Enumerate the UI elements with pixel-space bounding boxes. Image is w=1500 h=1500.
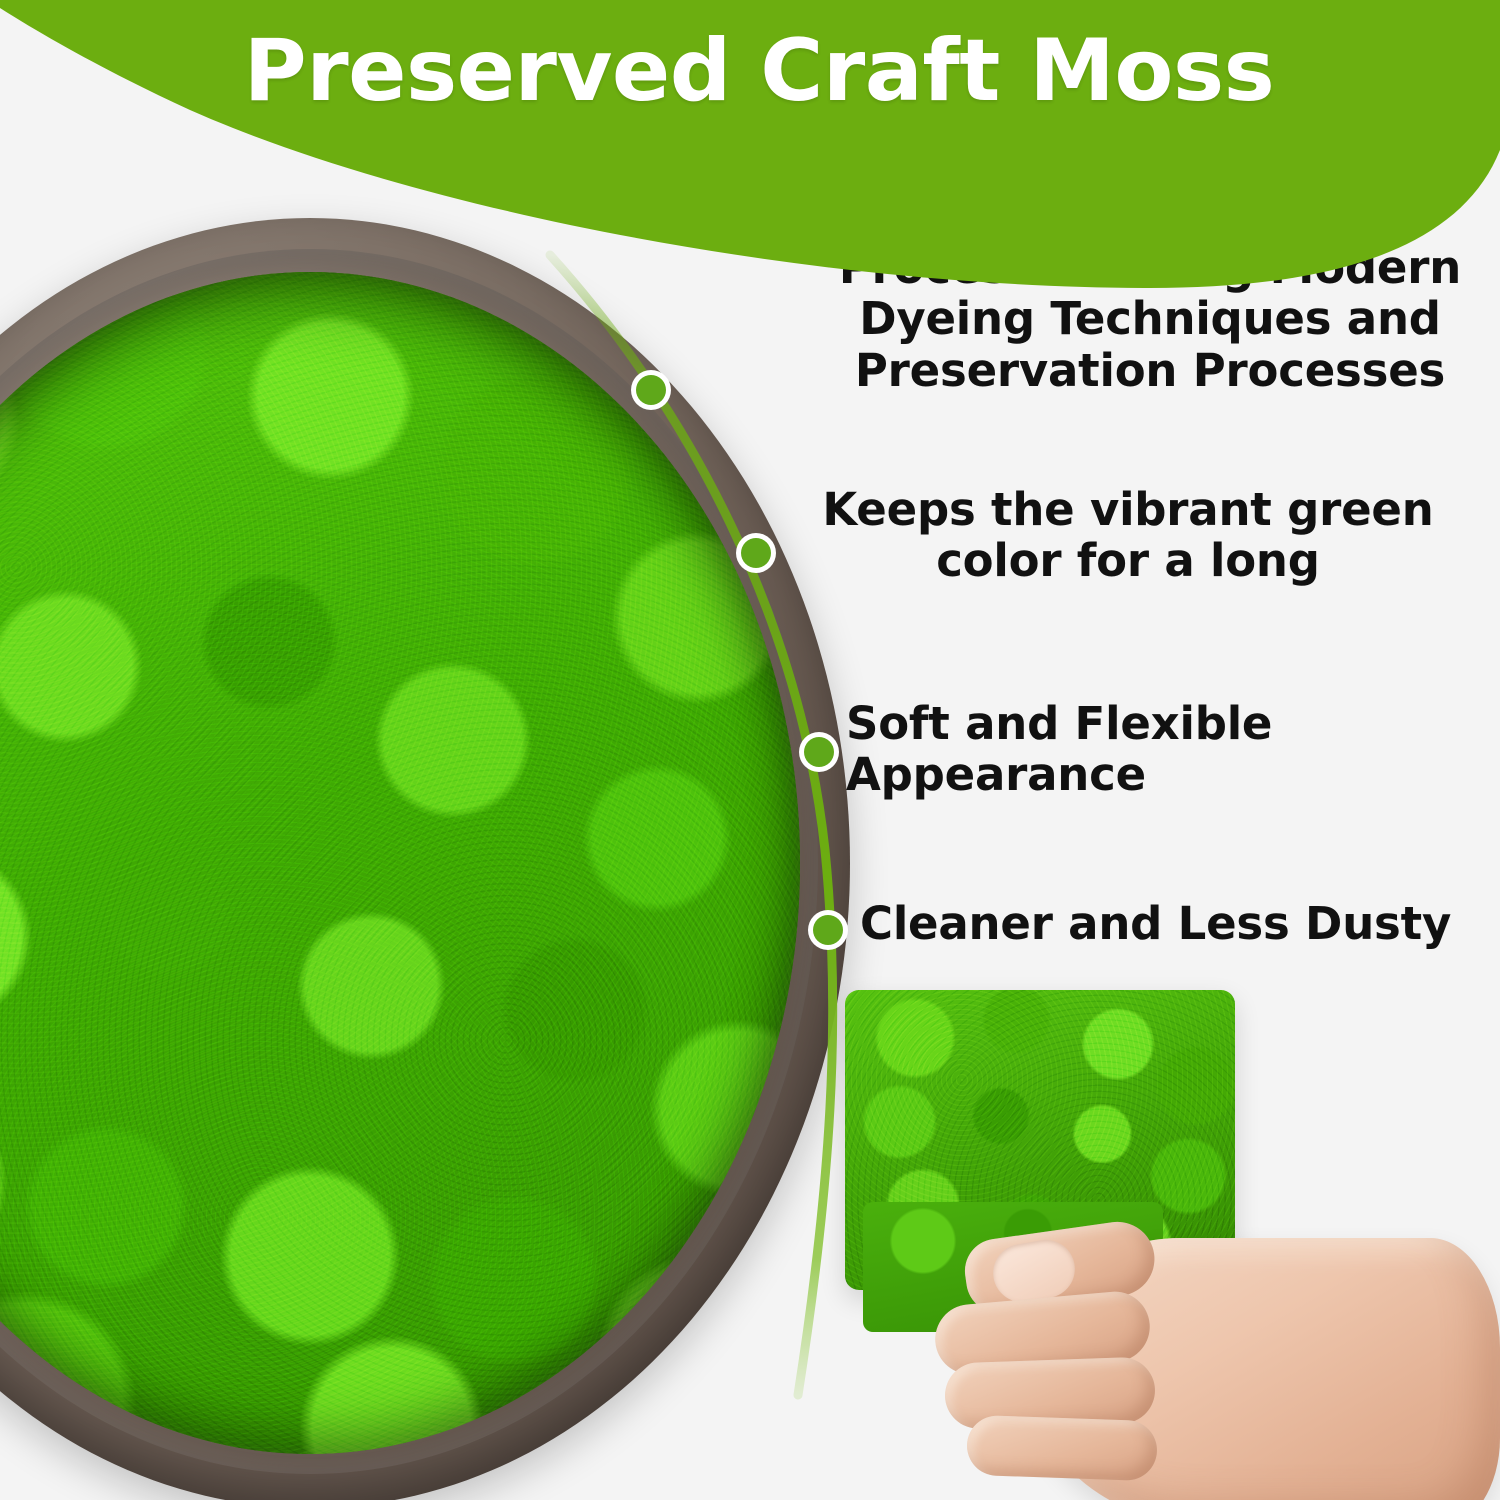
hand-finger-little [966,1415,1158,1482]
infographic-canvas: Preserved Craft Moss [0,0,1500,1500]
page-title: Preserved Craft Moss [0,26,1500,116]
feature-connector-curve [520,230,940,1410]
connector-path [550,255,833,1395]
connector-dot-3 [799,732,839,772]
connector-dot-2 [736,533,776,573]
connector-dot-1 [631,370,671,410]
feature-color: Keeps the vibrant green color for a long [818,484,1438,587]
feature-cleanliness: Cleaner and Less Dusty [860,898,1500,949]
connector-dot-4 [808,910,848,950]
feature-texture: Soft and Flexible Appearance [846,698,1366,801]
